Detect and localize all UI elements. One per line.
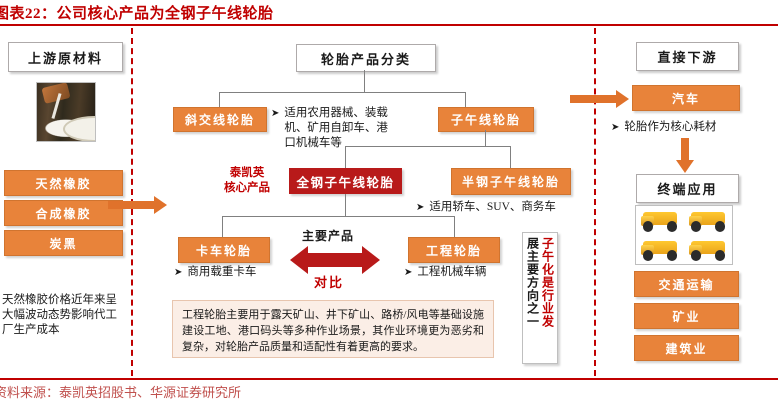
slogan-column-dark: 展主要方向之一 <box>526 237 540 359</box>
box-engineering-tire: 工程轮胎 <box>408 237 500 263</box>
rubber-tapping-photo <box>36 82 96 142</box>
engineering-tire-note-panel: 工程轮胎主要用于露天矿山、井下矿山、路桥/风电等基础设施建设工地、港口码头等多种… <box>172 300 494 358</box>
core-product-note: 泰凯英 核心产品 <box>209 166 285 196</box>
truck-tire-bullet: ➤ 商用载重卡车 <box>174 265 294 280</box>
comparison-double-arrow-icon <box>290 246 380 274</box>
downstream-header: 直接下游 <box>636 42 739 71</box>
application-box-transportation: 交通运输 <box>634 271 739 297</box>
downstream-bullet: ➤ 轮胎作为核心耗材 <box>611 120 771 135</box>
bullet-marker-icon: ➤ <box>271 106 279 121</box>
arrow-upstream-to-middle <box>108 196 167 214</box>
connector-header-down <box>364 70 365 92</box>
connector-header-split <box>219 92 465 93</box>
upstream-note: 天然橡胶价格近年来呈大幅波动态势影响代工厂生产成本 <box>2 293 128 338</box>
connector-to-engineering-tire <box>454 216 455 237</box>
box-automobile: 汽车 <box>632 85 740 111</box>
box-semi-steel-radial-tire: 半钢子午线轮胎 <box>451 168 571 195</box>
box-radial-tire: 子午线轮胎 <box>438 107 534 132</box>
truck-image-1 <box>636 206 684 235</box>
truck-image-3 <box>636 235 684 264</box>
connector-radial-split <box>345 146 510 147</box>
semi-steel-bullet: ➤ 适用轿车、SUV、商务车 <box>416 200 586 215</box>
source-divider <box>0 378 778 380</box>
bias-tire-bullet: ➤ 适用农用器械、装载机、矿用自卸车、港口机械车等 <box>271 106 393 151</box>
arrow-middle-to-downstream <box>570 90 629 108</box>
mining-dump-trucks-photo <box>635 205 733 265</box>
connector-radial-down <box>485 130 486 146</box>
comparison-label: 对比 <box>314 272 344 291</box>
material-box-synthetic-rubber: 合成橡胶 <box>4 200 123 226</box>
core-product-note-line2: 核心产品 <box>209 181 285 196</box>
middle-header: 轮胎产品分类 <box>296 44 436 72</box>
engineering-tire-bullet: ➤ 工程机械车辆 <box>404 265 524 280</box>
connector-to-radial <box>465 92 466 107</box>
box-truck-tire: 卡车轮胎 <box>178 237 270 263</box>
upstream-header: 上游原材料 <box>8 42 123 72</box>
connector-to-semi-steel <box>510 146 511 168</box>
material-box-carbon-black: 炭黑 <box>4 230 123 256</box>
chart-figure: 图表22：公司核心产品为全钢子午线轮胎 上游原材料 天然橡胶 合成橡胶 炭黑 天… <box>0 0 778 408</box>
connector-to-truck-tire <box>222 216 223 237</box>
box-bias-tire: 斜交线轮胎 <box>173 107 267 132</box>
bullet-marker-icon: ➤ <box>404 265 412 280</box>
truck-image-2 <box>684 206 732 235</box>
main-product-label: 主要产品 <box>302 227 354 244</box>
truck-image-4 <box>684 235 732 264</box>
divider-middle-downstream <box>594 28 596 376</box>
radialization-slogan: 子午化是行业发 展主要方向之一 <box>522 232 558 364</box>
slogan-column-red: 子午化是行业发 <box>541 237 555 359</box>
bullet-marker-icon: ➤ <box>416 200 424 215</box>
connector-all-steel-down <box>345 194 346 216</box>
application-box-mining: 矿业 <box>634 303 739 329</box>
bullet-marker-icon: ➤ <box>611 120 619 135</box>
bullet-marker-icon: ➤ <box>174 265 182 280</box>
title-divider <box>0 24 778 26</box>
source-note: 资料来源：泰凯英招股书、华源证券研究所 <box>0 382 494 402</box>
application-box-construction: 建筑业 <box>634 335 739 361</box>
box-all-steel-radial-tire: 全钢子午线轮胎 <box>289 168 402 194</box>
connector-to-bias <box>219 92 220 107</box>
terminal-application-header: 终端应用 <box>636 174 739 203</box>
connector-product-split <box>222 216 454 217</box>
latex-bowl-shape <box>63 116 96 142</box>
connector-to-all-steel <box>345 146 346 168</box>
arrow-downstream-to-terminal <box>676 138 694 173</box>
material-box-natural-rubber: 天然橡胶 <box>4 170 123 196</box>
core-product-note-line1: 泰凯英 <box>209 166 285 181</box>
page-title: 图表22：公司核心产品为全钢子午线轮胎 <box>0 2 494 24</box>
